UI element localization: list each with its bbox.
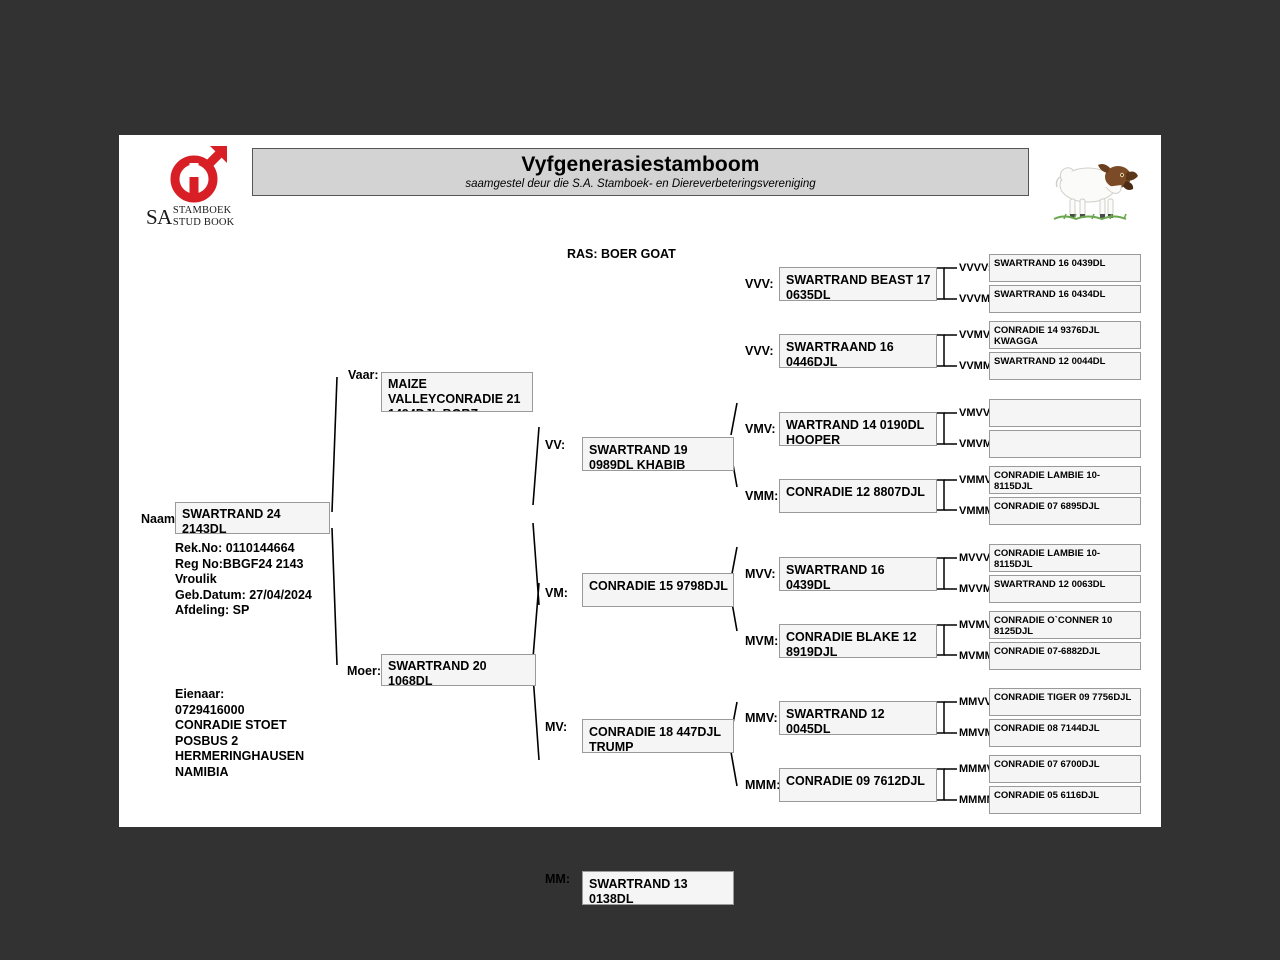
node-moer-text: SWARTRAND 20 1068DL — [382, 655, 535, 686]
node-vmv-text: WARTRAND 14 0190DL HOOPER — [780, 413, 936, 446]
node-mm[interactable]: SWARTRAND 13 0138DL — [582, 871, 734, 905]
label-naam: Naam: — [141, 512, 179, 526]
node-vvmm[interactable]: SWARTRAND 12 0044DL — [989, 352, 1141, 380]
node-vmm-text: CONRADIE 12 8807DJL — [780, 480, 936, 500]
node-vvv-text: SWARTRAND BEAST 17 0635DL — [780, 268, 936, 301]
node-vvm-text: SWARTRAAND 16 0446DJL — [780, 335, 936, 368]
node-vv-text: SWARTRAND 19 0989DL KHABIB — [583, 438, 733, 471]
node-mvv[interactable]: SWARTRAND 16 0439DL — [779, 557, 937, 591]
node-mmv[interactable]: SWARTRAND 12 0045DL — [779, 701, 937, 735]
node-vvvv[interactable]: SWARTRAND 16 0439DL — [989, 254, 1141, 282]
node-mmm-text: CONRADIE 09 7612DJL — [780, 769, 936, 789]
node-vaar[interactable]: MAIZE VALLEYCONRADIE 21 1494DJL BORZ — [381, 372, 533, 412]
label-vaar: Vaar: — [348, 368, 379, 382]
node-mmvv[interactable]: CONRADIE TIGER 09 7756DJL — [989, 688, 1141, 716]
label-mvv: MVV: — [745, 567, 776, 581]
node-vmmm-text: CONRADIE 07 6895DJL — [990, 498, 1140, 512]
node-vvvm-text: SWARTRAND 16 0434DL — [990, 286, 1140, 300]
node-vmvv-text — [990, 400, 1140, 403]
node-vm[interactable]: CONRADIE 15 9798DJL — [582, 573, 734, 607]
pedigree-page: SA STAMBOEKSTUD BOOK Vyfgenerasiestamboo… — [119, 135, 1161, 827]
node-mmvv-text: CONRADIE TIGER 09 7756DJL — [990, 689, 1140, 703]
node-mv-text: CONRADIE 18 447DJL TRUMP — [583, 720, 733, 753]
node-moer[interactable]: SWARTRAND 20 1068DL — [381, 654, 536, 686]
node-vmvv[interactable] — [989, 399, 1141, 427]
label-mvm: MVM: — [745, 634, 778, 648]
node-subject-text: SWARTRAND 24 2143DL — [176, 503, 329, 534]
node-vvmv[interactable]: CONRADIE 14 9376DJL KWAGGA — [989, 321, 1141, 349]
node-mvmm[interactable]: CONRADIE 07-6882DJL — [989, 642, 1141, 670]
label-vmm: VMM: — [745, 489, 778, 503]
node-mvv-text: SWARTRAND 16 0439DL — [780, 558, 936, 591]
label-vvm: VVV: — [745, 344, 774, 358]
label-vvvv: VVVV: — [959, 262, 991, 274]
node-vmmv[interactable]: CONRADIE LAMBIE 10-8115DJL — [989, 466, 1141, 494]
node-vvvv-text: SWARTRAND 16 0439DL — [990, 255, 1140, 269]
node-vaar-text: MAIZE VALLEYCONRADIE 21 1494DJL BORZ — [382, 373, 532, 412]
node-mvvm-text: SWARTRAND 12 0063DL — [990, 576, 1140, 590]
node-mmmv-text: CONRADIE 07 6700DJL — [990, 756, 1140, 770]
node-mvvv-text: CONRADIE LAMBIE 10-8115DJL — [990, 545, 1140, 570]
owner-details: Eienaar: 0729416000 CONRADIE STOET POSBU… — [175, 687, 304, 780]
node-vmvm[interactable] — [989, 430, 1141, 458]
subject-details: Rek.No: 0110144664 Reg No:BBGF24 2143 Vr… — [175, 541, 312, 619]
label-vv: VV: — [545, 438, 565, 452]
node-vm-text: CONRADIE 15 9798DJL — [583, 574, 733, 594]
node-mmm[interactable]: CONRADIE 09 7612DJL — [779, 768, 937, 802]
label-vvv: VVV: — [745, 277, 774, 291]
node-mvmv-text: CONRADIE O`CONNER 10 8125DJL — [990, 612, 1140, 637]
node-mvmm-text: CONRADIE 07-6882DJL — [990, 643, 1140, 657]
node-vmmm[interactable]: CONRADIE 07 6895DJL — [989, 497, 1141, 525]
node-subject[interactable]: SWARTRAND 24 2143DL — [175, 502, 330, 534]
node-mvvm[interactable]: SWARTRAND 12 0063DL — [989, 575, 1141, 603]
label-mmv: MMV: — [745, 711, 778, 725]
node-vvv[interactable]: SWARTRAND BEAST 17 0635DL — [779, 267, 937, 301]
node-mv[interactable]: CONRADIE 18 447DJL TRUMP — [582, 719, 734, 753]
node-vvmv-text: CONRADIE 14 9376DJL KWAGGA — [990, 322, 1140, 347]
label-moer: Moer: — [347, 664, 381, 678]
label-mmm: MMM: — [745, 778, 780, 792]
node-mmmm[interactable]: CONRADIE 05 6116DJL — [989, 786, 1141, 814]
node-mmvm-text: CONRADIE 08 7144DJL — [990, 720, 1140, 734]
node-vmm[interactable]: CONRADIE 12 8807DJL — [779, 479, 937, 513]
node-vmmv-text: CONRADIE LAMBIE 10-8115DJL — [990, 467, 1140, 492]
node-vvm[interactable]: SWARTRAAND 16 0446DJL — [779, 334, 937, 368]
node-mmmv[interactable]: CONRADIE 07 6700DJL — [989, 755, 1141, 783]
node-vvvm[interactable]: SWARTRAND 16 0434DL — [989, 285, 1141, 313]
node-mvmv[interactable]: CONRADIE O`CONNER 10 8125DJL — [989, 611, 1141, 639]
label-mm: MM: — [545, 872, 570, 886]
label-vm: VM: — [545, 586, 568, 600]
node-mvm[interactable]: CONRADIE BLAKE 12 8919DJL — [779, 624, 937, 658]
node-mm-text: SWARTRAND 13 0138DL — [583, 872, 733, 905]
node-mmvm[interactable]: CONRADIE 08 7144DJL — [989, 719, 1141, 747]
node-vmv[interactable]: WARTRAND 14 0190DL HOOPER — [779, 412, 937, 446]
node-vv[interactable]: SWARTRAND 19 0989DL KHABIB — [582, 437, 734, 471]
label-mv: MV: — [545, 720, 567, 734]
node-mvvv[interactable]: CONRADIE LAMBIE 10-8115DJL — [989, 544, 1141, 572]
node-vvmm-text: SWARTRAND 12 0044DL — [990, 353, 1140, 367]
node-mvm-text: CONRADIE BLAKE 12 8919DJL — [780, 625, 936, 658]
label-vmv: VMV: — [745, 422, 776, 436]
node-mmv-text: SWARTRAND 12 0045DL — [780, 702, 936, 735]
node-mmmm-text: CONRADIE 05 6116DJL — [990, 787, 1140, 801]
node-vmvm-text — [990, 431, 1140, 434]
